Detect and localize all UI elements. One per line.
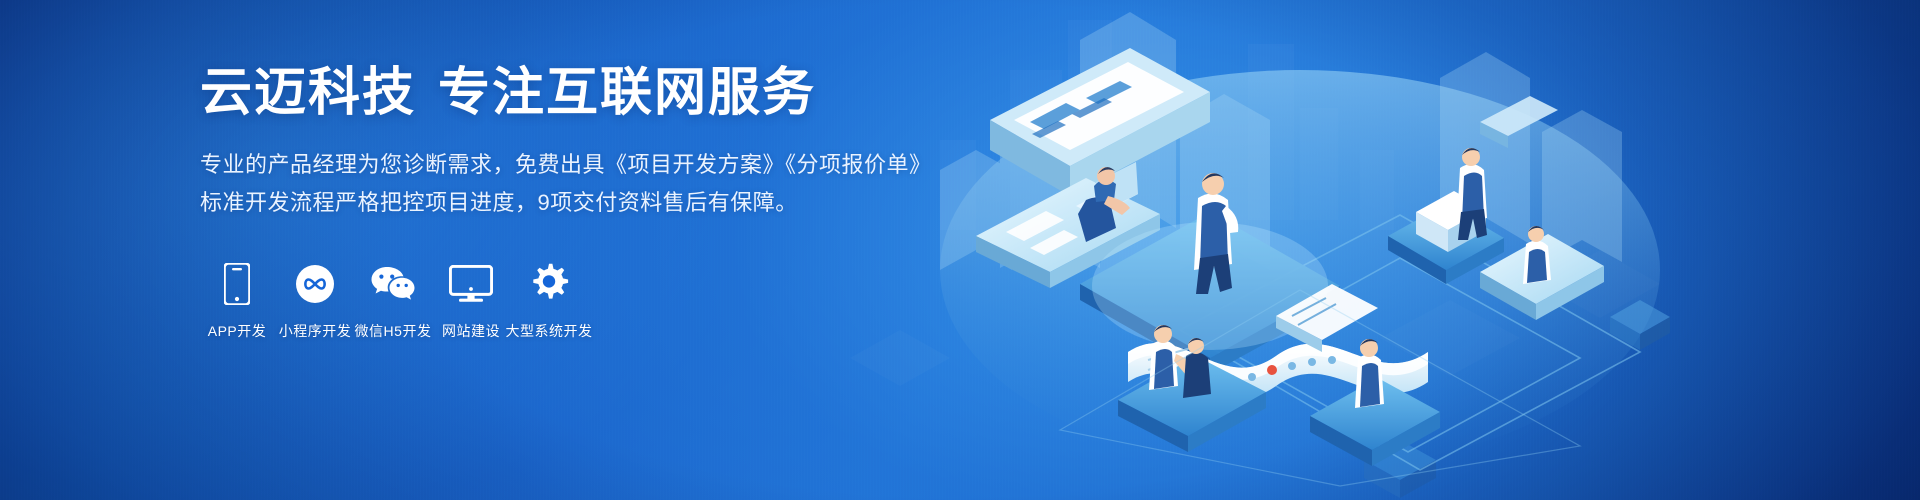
service-label-website: 网站建设 (442, 321, 500, 341)
illustration-isometric-tech (880, 0, 1920, 500)
service-label-system: 大型系统开发 (506, 321, 593, 341)
subtitle-line-1: 专业的产品经理为您诊断需求，免费出具《项目开发方案》《分项报价单》 (200, 146, 900, 184)
service-item-website[interactable]: 网站建设 (434, 261, 508, 341)
service-item-app[interactable]: APP开发 (200, 261, 274, 341)
gear-icon (528, 261, 570, 307)
service-icon-row: APP开发 小程序开发 (200, 261, 900, 341)
service-label-miniprogram: 小程序开发 (279, 321, 352, 341)
monitor-icon (449, 261, 493, 307)
service-item-wechat[interactable]: 微信H5开发 (356, 261, 430, 341)
mobile-phone-icon (224, 261, 250, 307)
service-label-wechat: 微信H5开发 (355, 321, 432, 341)
mini-program-icon (295, 261, 335, 307)
banner-content: 云迈科技专注互联网服务 专业的产品经理为您诊断需求，免费出具《项目开发方案》《分… (200, 64, 900, 341)
headline-tagline: 专注互联网服务 (438, 64, 816, 122)
wechat-icon (371, 261, 415, 307)
headline-brand: 云迈科技 (200, 64, 416, 122)
subtitle-line-2: 标准开发流程严格把控项目进度，9项交付资料售后有保障。 (200, 184, 900, 222)
service-label-app: APP开发 (208, 321, 267, 341)
page-title: 云迈科技专注互联网服务 (200, 64, 900, 124)
promo-banner: 云迈科技专注互联网服务 专业的产品经理为您诊断需求，免费出具《项目开发方案》《分… (0, 0, 1920, 500)
service-item-system[interactable]: 大型系统开发 (512, 261, 586, 341)
service-item-miniprogram[interactable]: 小程序开发 (278, 261, 352, 341)
